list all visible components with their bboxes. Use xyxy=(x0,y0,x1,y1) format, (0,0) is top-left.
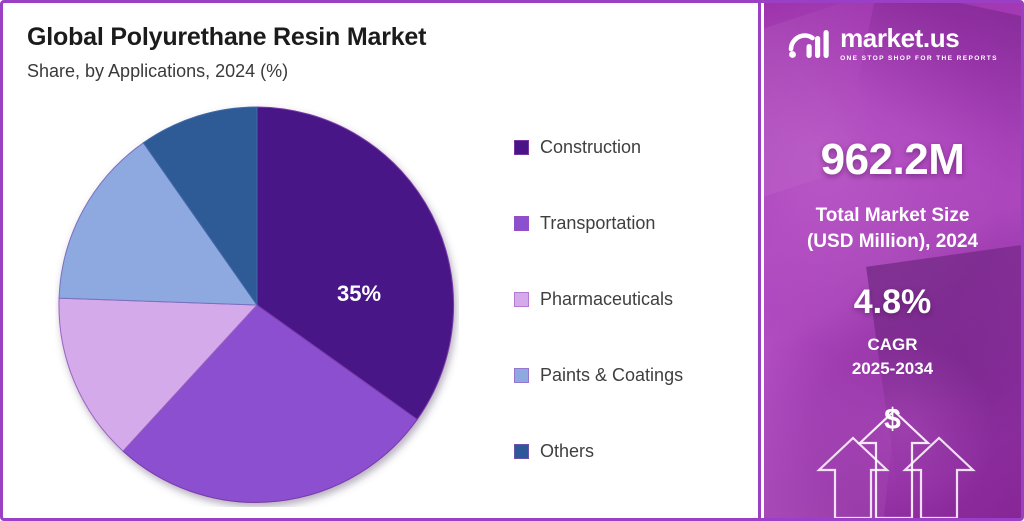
legend-item-transportation[interactable]: Transportation xyxy=(514,185,744,261)
pie-slices xyxy=(59,107,454,502)
brand-text-block: market.us ONE STOP SHOP FOR THE REPORTS xyxy=(840,25,998,62)
market-size-label: Total Market Size (USD Million), 2024 xyxy=(764,203,1021,254)
page-title: Global Polyurethane Resin Market xyxy=(27,23,426,52)
legend-item-paints-coatings[interactable]: Paints & Coatings xyxy=(514,337,744,413)
legend-swatch-icon xyxy=(514,368,529,383)
legend-item-others[interactable]: Others xyxy=(514,413,744,489)
legend-item-label: Paints & Coatings xyxy=(540,365,683,386)
legend-item-label: Others xyxy=(540,441,594,462)
legend-swatch-icon xyxy=(514,140,529,155)
legend-item-label: Transportation xyxy=(540,213,655,234)
legend-swatch-icon xyxy=(514,444,529,459)
legend-item-pharmaceuticals[interactable]: Pharmaceuticals xyxy=(514,261,744,337)
panel-divider xyxy=(758,3,761,518)
legend-item-label: Pharmaceuticals xyxy=(540,289,673,310)
market-size-label-line1: Total Market Size xyxy=(764,203,1021,229)
market-us-logo-icon xyxy=(787,27,831,61)
pie-data-label-construction: 35% xyxy=(337,281,381,307)
growth-arrows-icon xyxy=(764,408,1021,518)
pie-chart-svg xyxy=(55,103,459,507)
chart-panel: Global Polyurethane Resin Market Share, … xyxy=(3,3,758,518)
legend-swatch-icon xyxy=(514,216,529,231)
infographic-page: Global Polyurethane Resin Market Share, … xyxy=(0,0,1024,521)
stats-panel: market.us ONE STOP SHOP FOR THE REPORTS … xyxy=(764,3,1021,518)
chart-legend: Construction Transportation Pharmaceutic… xyxy=(514,109,744,489)
legend-item-construction[interactable]: Construction xyxy=(514,109,744,185)
brand-tagline: ONE STOP SHOP FOR THE REPORTS xyxy=(840,55,998,62)
brand-name: market.us xyxy=(840,25,998,51)
cagr-value: 4.8% xyxy=(764,283,1021,322)
pie-chart xyxy=(55,103,459,507)
page-subtitle: Share, by Applications, 2024 (%) xyxy=(27,61,288,82)
legend-item-label: Construction xyxy=(540,137,641,158)
market-size-label-line2: (USD Million), 2024 xyxy=(764,229,1021,255)
brand-logo[interactable]: market.us ONE STOP SHOP FOR THE REPORTS xyxy=(764,25,1021,62)
cagr-label: CAGR 2025-2034 xyxy=(764,333,1021,381)
cagr-label-line1: CAGR xyxy=(764,333,1021,357)
cagr-label-line2: 2025-2034 xyxy=(764,357,1021,381)
market-size-value: 962.2M xyxy=(764,135,1021,185)
legend-swatch-icon xyxy=(514,292,529,307)
